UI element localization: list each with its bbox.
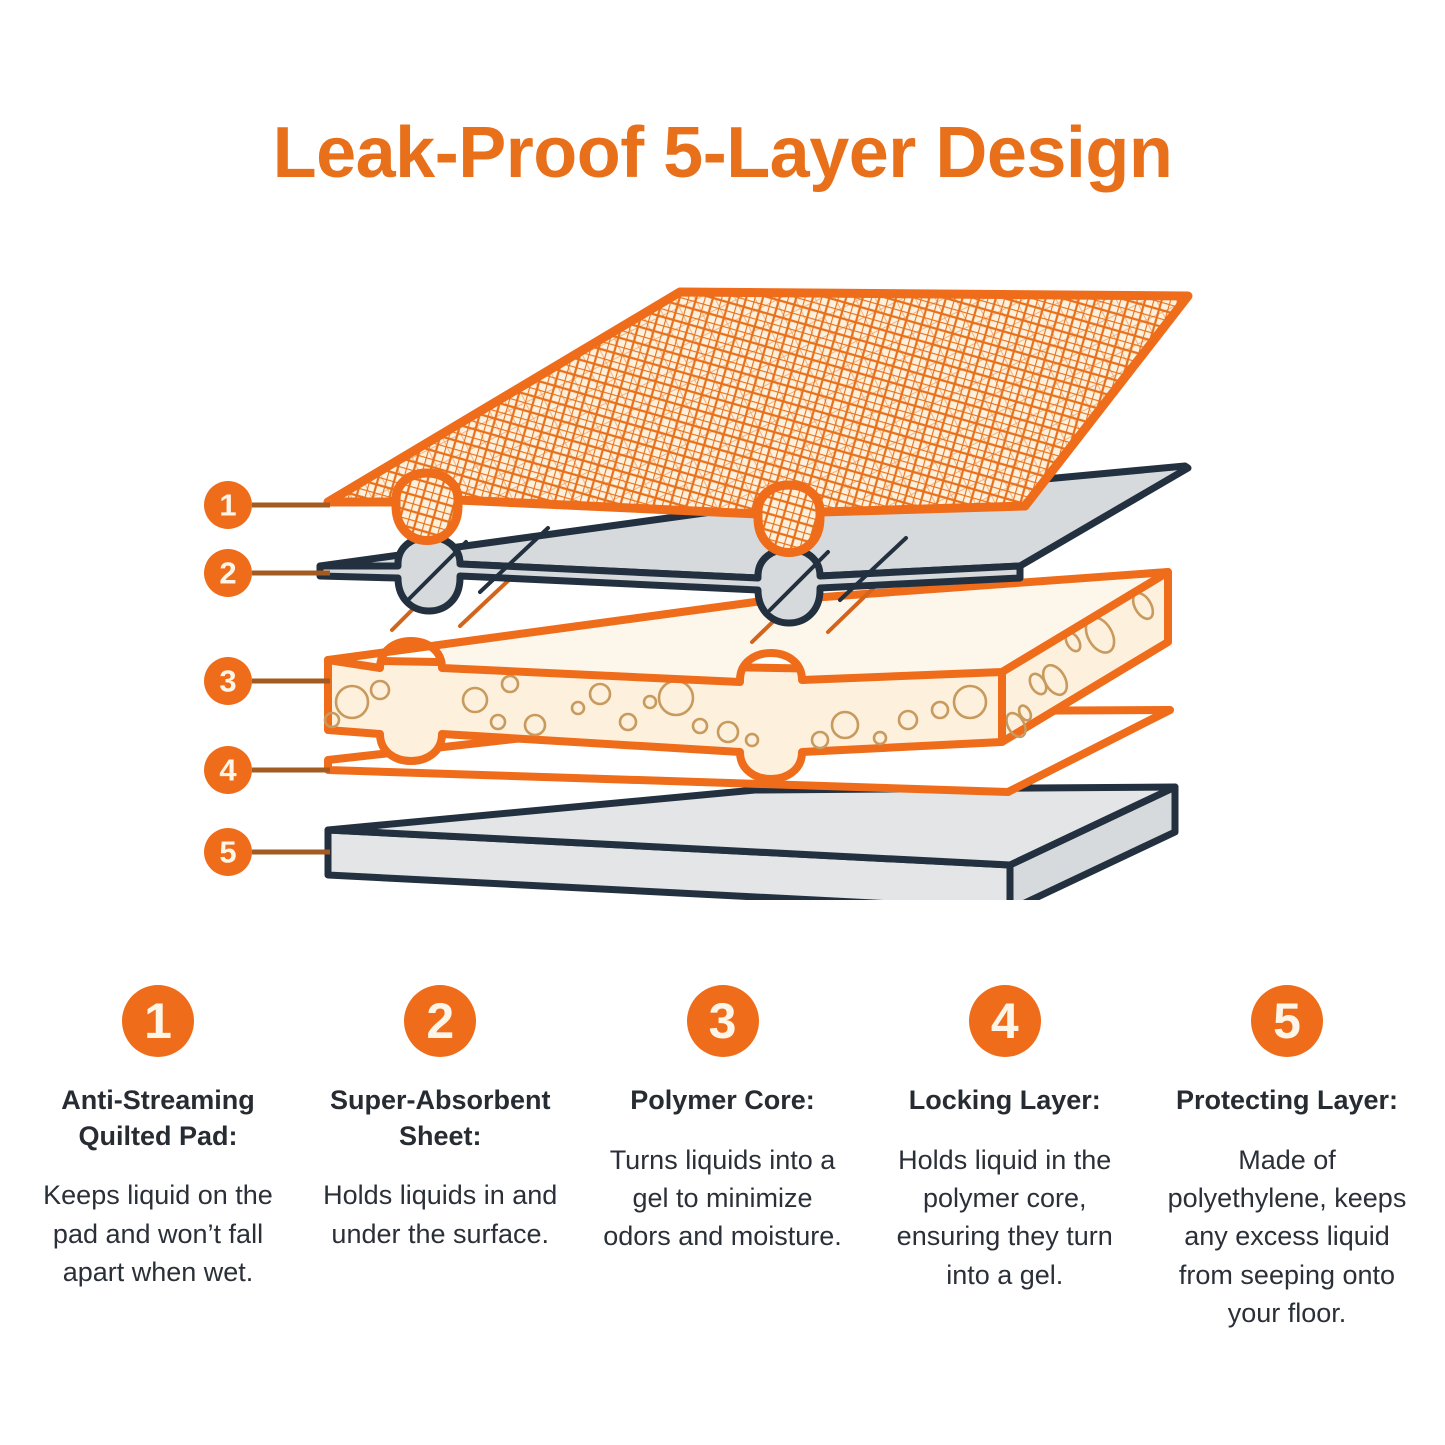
callout-badge-3: 3	[204, 657, 252, 705]
legend-title-4: Locking Layer:	[909, 1083, 1101, 1119]
legend-description-3: Turns liquids into a gel to minimize odo…	[602, 1141, 844, 1256]
callout-badge-2: 2	[204, 549, 252, 597]
diagram-callouts: 1 2 3 4 5	[204, 481, 330, 876]
legend-column-4: 4 Locking Layer: Holds liquid in the pol…	[871, 985, 1139, 1294]
legend-title-5: Protecting Layer:	[1176, 1083, 1398, 1119]
legend-column-2: 2 Super-Absorbent Sheet: Holds liquids i…	[306, 985, 574, 1253]
legend-badge-2: 2	[404, 985, 476, 1057]
legend-badge-4: 4	[969, 985, 1041, 1057]
legend-description-4: Holds liquid in the polymer core, ensuri…	[884, 1141, 1126, 1294]
callout-number-3: 3	[219, 664, 236, 699]
callout-number-5: 5	[219, 835, 236, 870]
infographic-page: Leak-Proof 5-Layer Design	[0, 0, 1445, 1445]
legend-column-1: 1 Anti-Streaming Quilted Pad: Keeps liqu…	[24, 985, 292, 1291]
legend-title-2: Super-Absorbent Sheet:	[315, 1083, 565, 1154]
callout-badge-4: 4	[204, 746, 252, 794]
callout-number-2: 2	[219, 556, 236, 591]
callout-number-1: 1	[219, 488, 236, 523]
legend-description-2: Holds liquids in and under the surface.	[319, 1176, 561, 1253]
legend-title-3: Polymer Core:	[630, 1083, 815, 1119]
exploded-layer-diagram: 1 2 3 4 5	[180, 270, 1240, 900]
legend-column-5: 5 Protecting Layer: Made of polyethylene…	[1153, 985, 1421, 1332]
legend-badge-5: 5	[1251, 985, 1323, 1057]
page-title: Leak-Proof 5-Layer Design	[0, 112, 1445, 194]
legend-badge-3: 3	[687, 985, 759, 1057]
layer-5-protecting-layer	[328, 787, 1175, 900]
legend-description-1: Keeps liquid on the pad and won’t fall a…	[37, 1176, 279, 1291]
callout-badge-5: 5	[204, 828, 252, 876]
callout-number-4: 4	[219, 753, 237, 788]
legend-description-5: Made of polyethylene, keeps any excess l…	[1166, 1141, 1408, 1333]
callout-badge-1: 1	[204, 481, 252, 529]
legend-column-3: 3 Polymer Core: Turns liquids into a gel…	[589, 985, 857, 1256]
legend-row: 1 Anti-Streaming Quilted Pad: Keeps liqu…	[24, 985, 1421, 1332]
legend-title-1: Anti-Streaming Quilted Pad:	[33, 1083, 283, 1154]
legend-badge-1: 1	[122, 985, 194, 1057]
